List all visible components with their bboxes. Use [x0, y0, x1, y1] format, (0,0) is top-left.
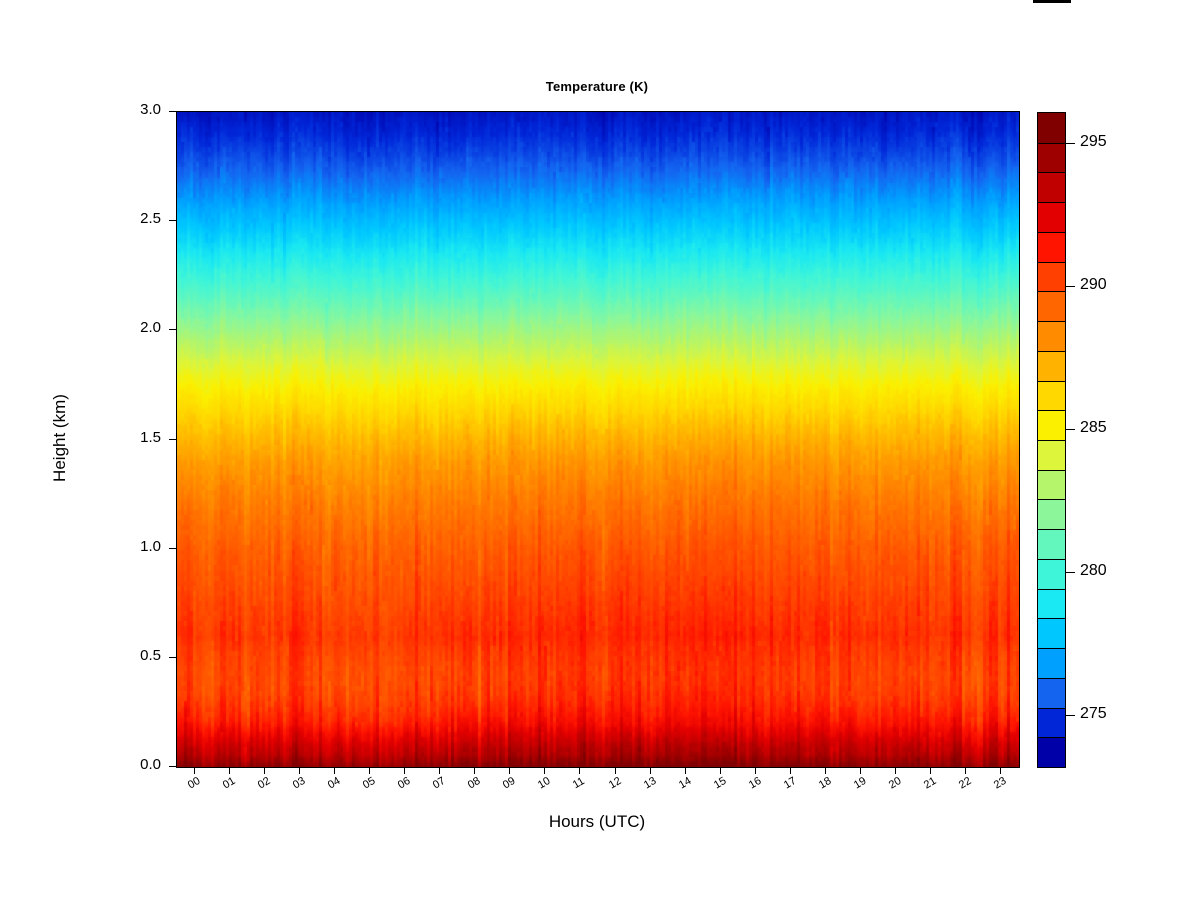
- x-tick-label: 16: [747, 775, 764, 792]
- top-edge-artifact: [1033, 0, 1071, 3]
- x-tick-label: 00: [185, 775, 202, 792]
- colorbar-tick-label: 285: [1080, 419, 1107, 437]
- x-tick-label: 20: [887, 775, 904, 792]
- y-tick-mark: [169, 439, 176, 440]
- y-tick-label: 3.0: [140, 101, 161, 118]
- x-tick-label: 18: [817, 775, 834, 792]
- x-tick-mark: [194, 767, 195, 774]
- temperature-heatmap: [177, 112, 1019, 767]
- colorbar-block: [1038, 618, 1065, 648]
- x-tick-mark: [334, 767, 335, 774]
- x-tick-label: 19: [852, 775, 869, 792]
- x-tick-label: 06: [396, 775, 413, 792]
- colorbar-tick-mark: [1066, 429, 1075, 430]
- x-tick-label: 15: [712, 775, 729, 792]
- heatmap-plot-panel: [176, 111, 1020, 768]
- colorbar-block: [1038, 172, 1065, 202]
- x-tick-mark: [544, 767, 545, 774]
- x-tick-label: 17: [782, 775, 799, 792]
- x-tick-mark: [509, 767, 510, 774]
- x-tick-label: 21: [922, 775, 939, 792]
- colorbar-block: [1038, 351, 1065, 381]
- colorbar-block: [1038, 113, 1065, 143]
- x-tick-label: 04: [326, 775, 343, 792]
- colorbar-tick-mark: [1066, 286, 1075, 287]
- x-tick-label: 14: [677, 775, 694, 792]
- temperature-time-height-figure: Temperature (K) 0.00.51.01.52.02.53.0 00…: [0, 0, 1200, 900]
- y-tick-label: 2.5: [140, 210, 161, 227]
- colorbar-block: [1038, 529, 1065, 559]
- colorbar-block: [1038, 737, 1065, 767]
- colorbar-block: [1038, 678, 1065, 708]
- x-tick-mark: [1000, 767, 1001, 774]
- y-axis-title: Height (km): [50, 348, 70, 528]
- x-tick-label: 12: [606, 775, 623, 792]
- colorbar-block: [1038, 440, 1065, 470]
- y-tick-label: 1.5: [140, 429, 161, 446]
- colorbar-block: [1038, 143, 1065, 172]
- y-tick-mark: [169, 766, 176, 767]
- x-tick-mark: [930, 767, 931, 774]
- x-tick-label: 13: [641, 775, 658, 792]
- x-tick-label: 09: [501, 775, 518, 792]
- x-tick-mark: [650, 767, 651, 774]
- y-tick-label: 0.0: [140, 756, 161, 773]
- x-tick-label: 02: [256, 775, 273, 792]
- x-tick-label: 08: [466, 775, 483, 792]
- y-tick-mark: [169, 329, 176, 330]
- colorbar-block: [1038, 381, 1065, 410]
- x-tick-mark: [860, 767, 861, 774]
- colorbar-block: [1038, 410, 1065, 440]
- colorbar-tick-mark: [1066, 143, 1075, 144]
- y-tick-mark: [169, 111, 176, 112]
- x-tick-mark: [369, 767, 370, 774]
- colorbar-tick-label: 290: [1080, 276, 1107, 294]
- x-tick-mark: [299, 767, 300, 774]
- x-tick-mark: [685, 767, 686, 774]
- colorbar-tick-label: 280: [1080, 562, 1107, 580]
- x-tick-label: 01: [220, 775, 237, 792]
- colorbar-tick-mark: [1066, 715, 1075, 716]
- x-tick-mark: [615, 767, 616, 774]
- colorbar-block: [1038, 708, 1065, 737]
- x-axis-title: Hours (UTC): [176, 812, 1018, 832]
- colorbar: [1037, 112, 1066, 768]
- colorbar-block: [1038, 232, 1065, 262]
- x-tick-mark: [229, 767, 230, 774]
- x-tick-label: 10: [536, 775, 553, 792]
- x-tick-mark: [474, 767, 475, 774]
- x-tick-label: 11: [571, 775, 587, 791]
- x-tick-mark: [439, 767, 440, 774]
- x-tick-label: 03: [291, 775, 308, 792]
- colorbar-tick-label: 295: [1080, 133, 1107, 151]
- x-tick-mark: [790, 767, 791, 774]
- colorbar-block: [1038, 470, 1065, 499]
- x-tick-mark: [825, 767, 826, 774]
- colorbar-block: [1038, 589, 1065, 618]
- y-tick-mark: [169, 657, 176, 658]
- colorbar-block: [1038, 262, 1065, 291]
- y-tick-label: 0.5: [140, 647, 161, 664]
- plot-title: Temperature (K): [176, 79, 1018, 94]
- x-tick-mark: [755, 767, 756, 774]
- x-tick-mark: [720, 767, 721, 774]
- y-tick-label: 2.0: [140, 319, 161, 336]
- colorbar-block: [1038, 499, 1065, 529]
- colorbar-block: [1038, 559, 1065, 589]
- x-tick-label: 05: [361, 775, 378, 792]
- colorbar-tick-label: 275: [1080, 705, 1107, 723]
- x-tick-mark: [895, 767, 896, 774]
- colorbar-block: [1038, 321, 1065, 351]
- x-tick-mark: [404, 767, 405, 774]
- colorbar-block: [1038, 291, 1065, 321]
- x-tick-label: 23: [992, 775, 1009, 792]
- x-tick-mark: [965, 767, 966, 774]
- x-tick-label: 22: [957, 775, 974, 792]
- y-tick-mark: [169, 220, 176, 221]
- x-tick-mark: [579, 767, 580, 774]
- x-tick-mark: [264, 767, 265, 774]
- colorbar-tick-mark: [1066, 572, 1075, 573]
- colorbar-block: [1038, 648, 1065, 678]
- x-tick-label: 07: [431, 775, 448, 792]
- colorbar-block: [1038, 202, 1065, 232]
- y-tick-label: 1.0: [140, 538, 161, 555]
- y-tick-mark: [169, 548, 176, 549]
